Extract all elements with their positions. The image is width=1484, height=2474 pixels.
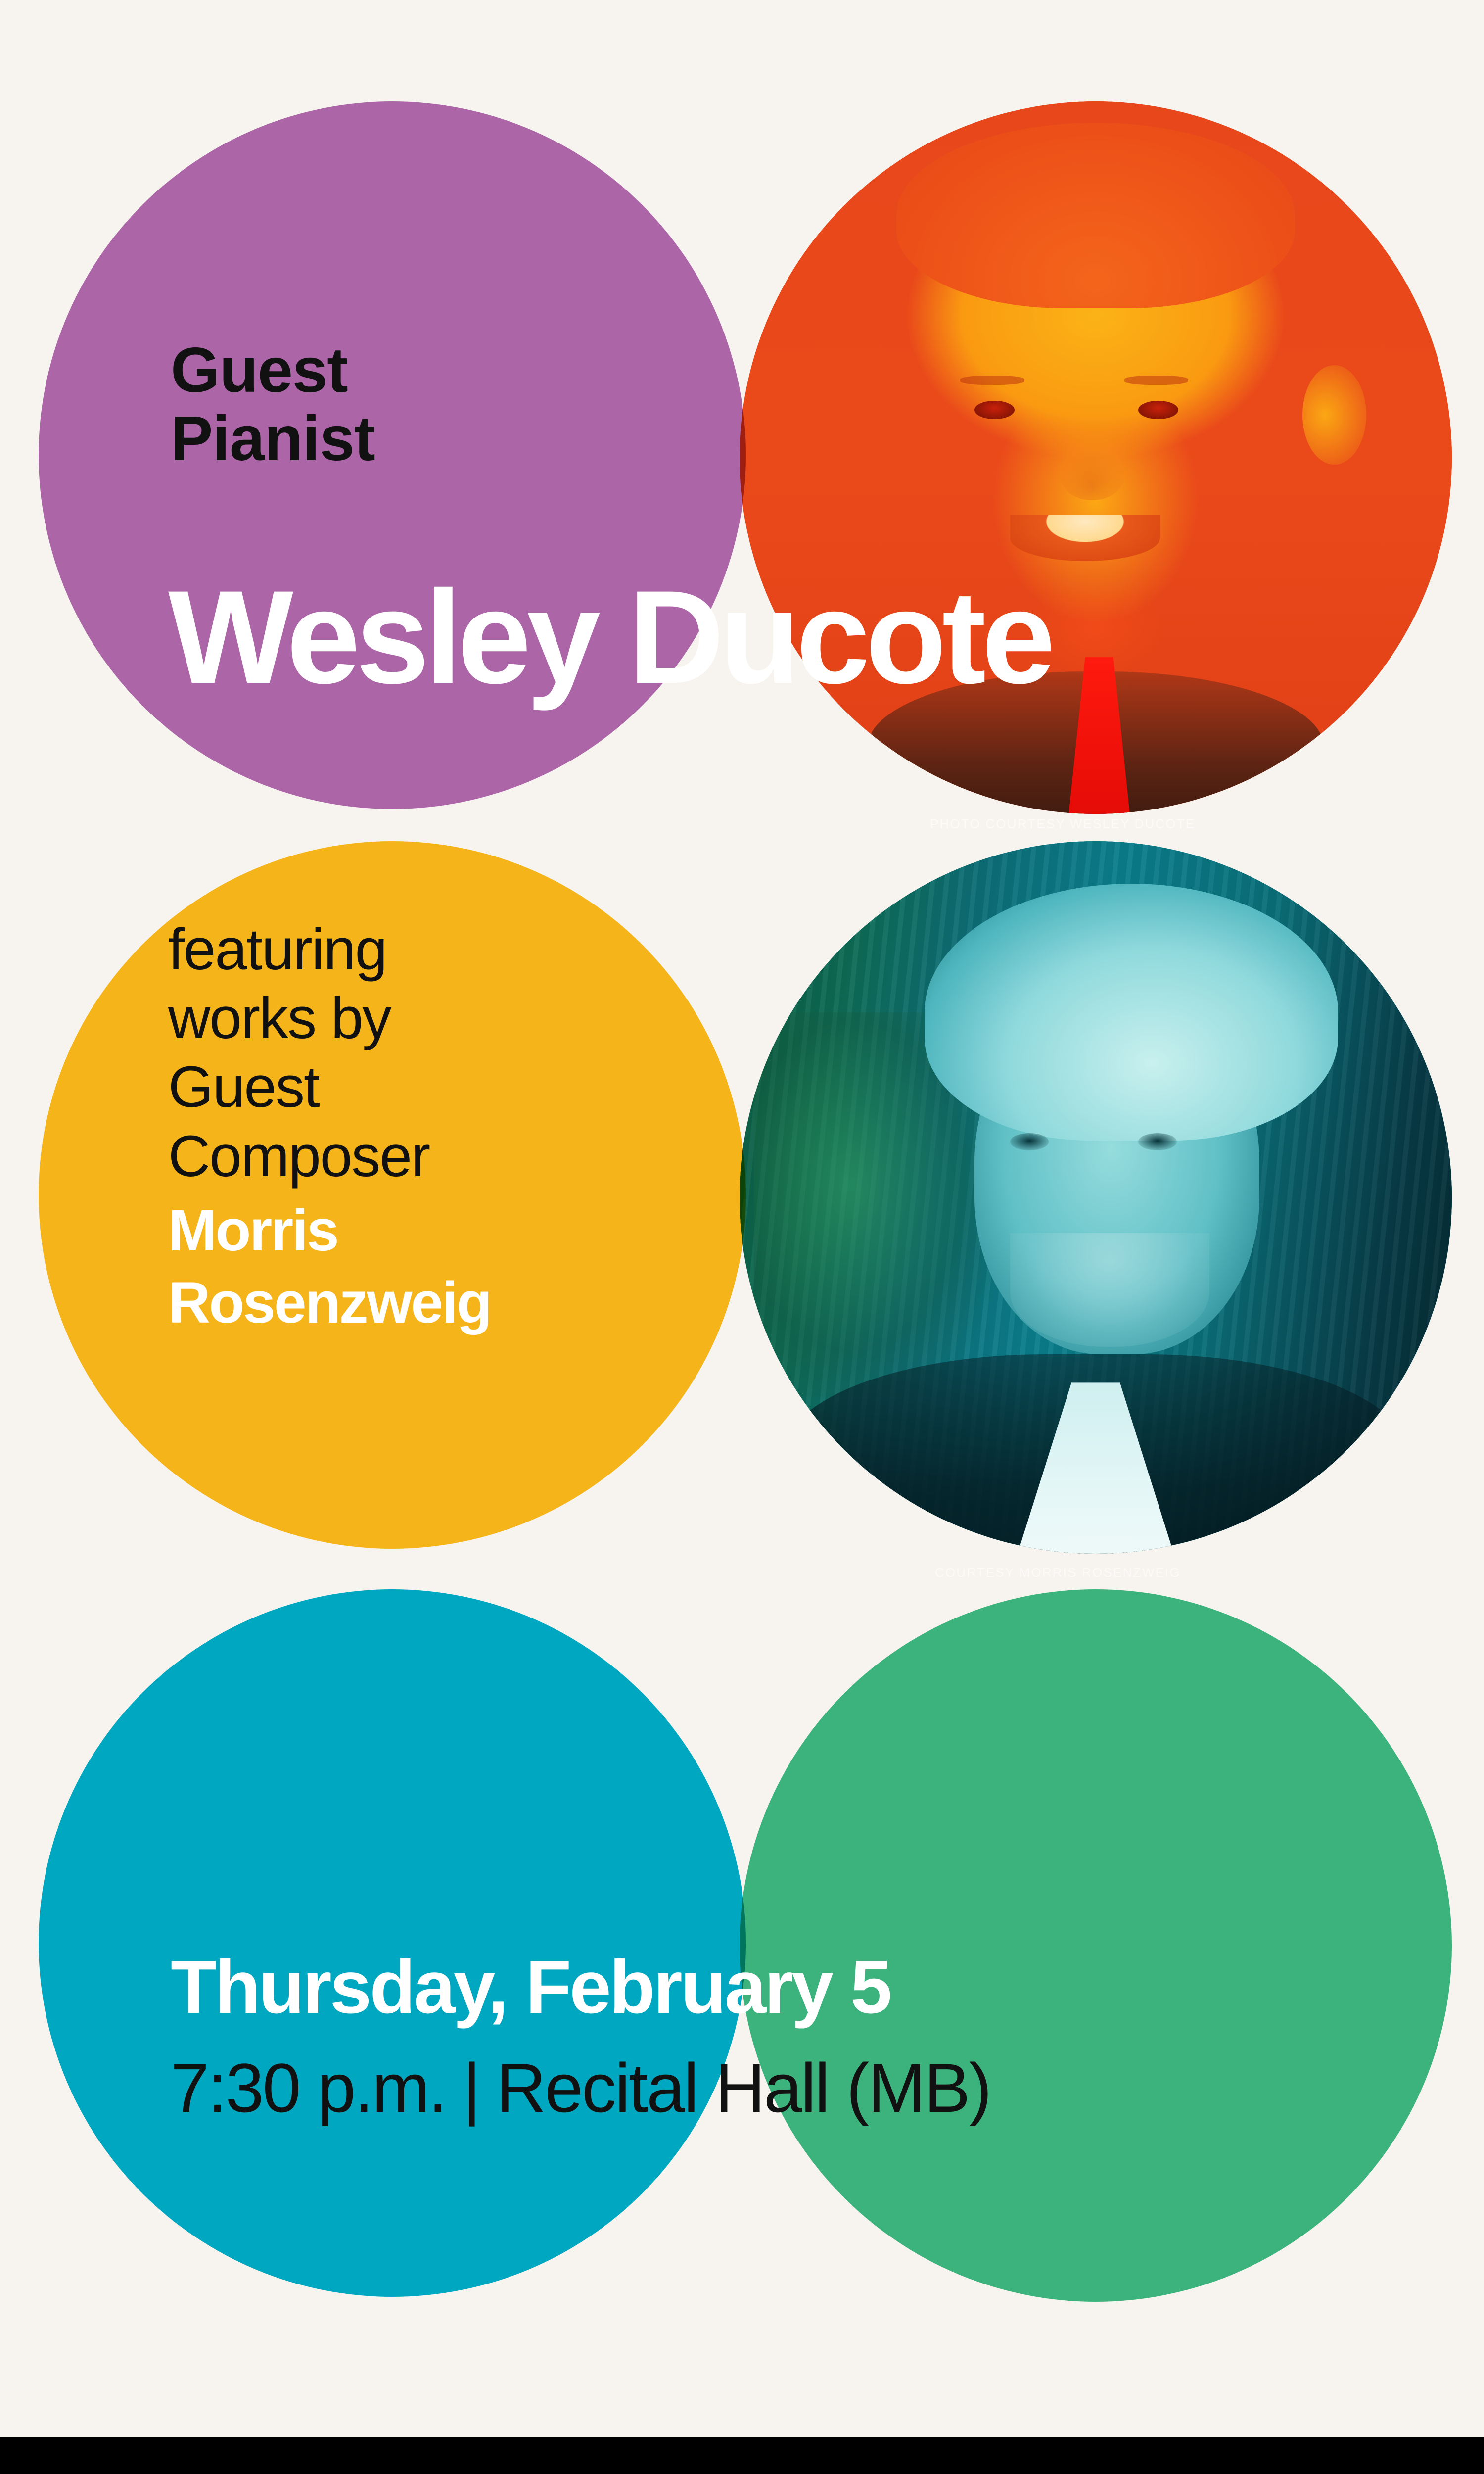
portrait1-eye-left (974, 401, 1015, 419)
feature-line-1: featuring (168, 915, 752, 984)
portrait1-nose (1060, 451, 1124, 501)
feature-line-2: works by (168, 984, 752, 1053)
portrait2-beard (1010, 1233, 1209, 1347)
event-venue: Recital Hall (MB) (496, 2049, 990, 2127)
feature-line-3: Guest (168, 1053, 752, 1122)
portrait1-smile (1010, 515, 1159, 561)
circle-teal (39, 1589, 746, 2297)
portrait1-ear (1302, 365, 1367, 465)
event-time-venue: 7:30 p.m.|Recital Hall (MB) (171, 2053, 1358, 2123)
portrait2-eye-left (1010, 1133, 1049, 1150)
footer-bar: FREE ADMISSION • SEATING LIMITED TO VENU… (0, 2437, 1484, 2474)
portrait1-brow-right (1124, 376, 1189, 385)
circle-photo-morris-rosenzweig (740, 841, 1452, 1554)
portrait1-hair (896, 123, 1295, 308)
poster-canvas: Guest Pianist Wesley Ducote featuring wo… (0, 0, 1484, 2474)
portrait1-eye-right (1138, 401, 1178, 419)
feature-line-4: Composer (168, 1122, 752, 1191)
kicker-line-2: Pianist (171, 405, 715, 473)
performer-name: Wesley Ducote (168, 574, 1454, 700)
event-time: 7:30 p.m. (171, 2049, 446, 2127)
composer-name-line-2: Rosenzweig (168, 1271, 752, 1335)
kicker-guest-pianist: Guest Pianist (171, 336, 715, 473)
event-separator: | (446, 2049, 496, 2127)
photo-credit-wesley-ducote: PHOTO COURTESY WESLEY DUCOTE (930, 816, 1195, 832)
event-date: Thursday, February 5 (171, 1950, 1358, 2025)
composer-name-line-1: Morris (168, 1199, 752, 1263)
kicker-line-1: Guest (171, 336, 715, 405)
photo-credit-morris-rosenzweig: COURTESY MORRIS ROSENZWEIG (935, 1565, 1181, 1580)
portrait1-brow-left (960, 376, 1024, 385)
feature-block: featuring works by Guest Composer Morris… (168, 915, 752, 1335)
portrait2-eye-right (1138, 1133, 1177, 1150)
portrait2-hair (925, 884, 1338, 1140)
